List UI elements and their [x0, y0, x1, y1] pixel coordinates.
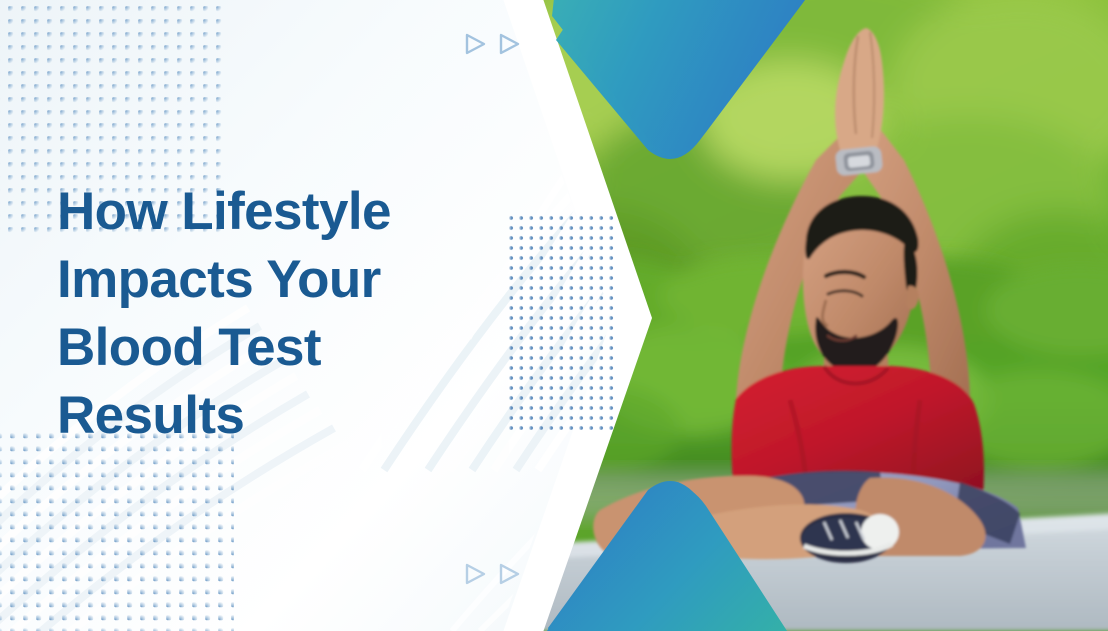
- page-title: How Lifestyle Impacts Your Blood Test Re…: [57, 178, 487, 450]
- white-chevron-divider: [540, 0, 670, 631]
- blog-banner: How Lifestyle Impacts Your Blood Test Re…: [0, 0, 1108, 631]
- double-play-arrow-bottom: [462, 561, 522, 587]
- headline-line-3: Blood Test: [57, 314, 487, 382]
- play-arrow-icon: [462, 31, 488, 57]
- play-arrow-icon: [496, 31, 522, 57]
- headline-line-2: Impacts Your: [57, 246, 487, 314]
- headline-line-1: How Lifestyle: [57, 178, 487, 246]
- double-play-arrow-top: [462, 31, 522, 57]
- background-left-edge-line: [0, 0, 3, 631]
- play-arrow-icon: [496, 561, 522, 587]
- play-arrow-icon: [462, 561, 488, 587]
- headline-line-4: Results: [57, 382, 487, 450]
- hero-photo-region: [540, 0, 1108, 631]
